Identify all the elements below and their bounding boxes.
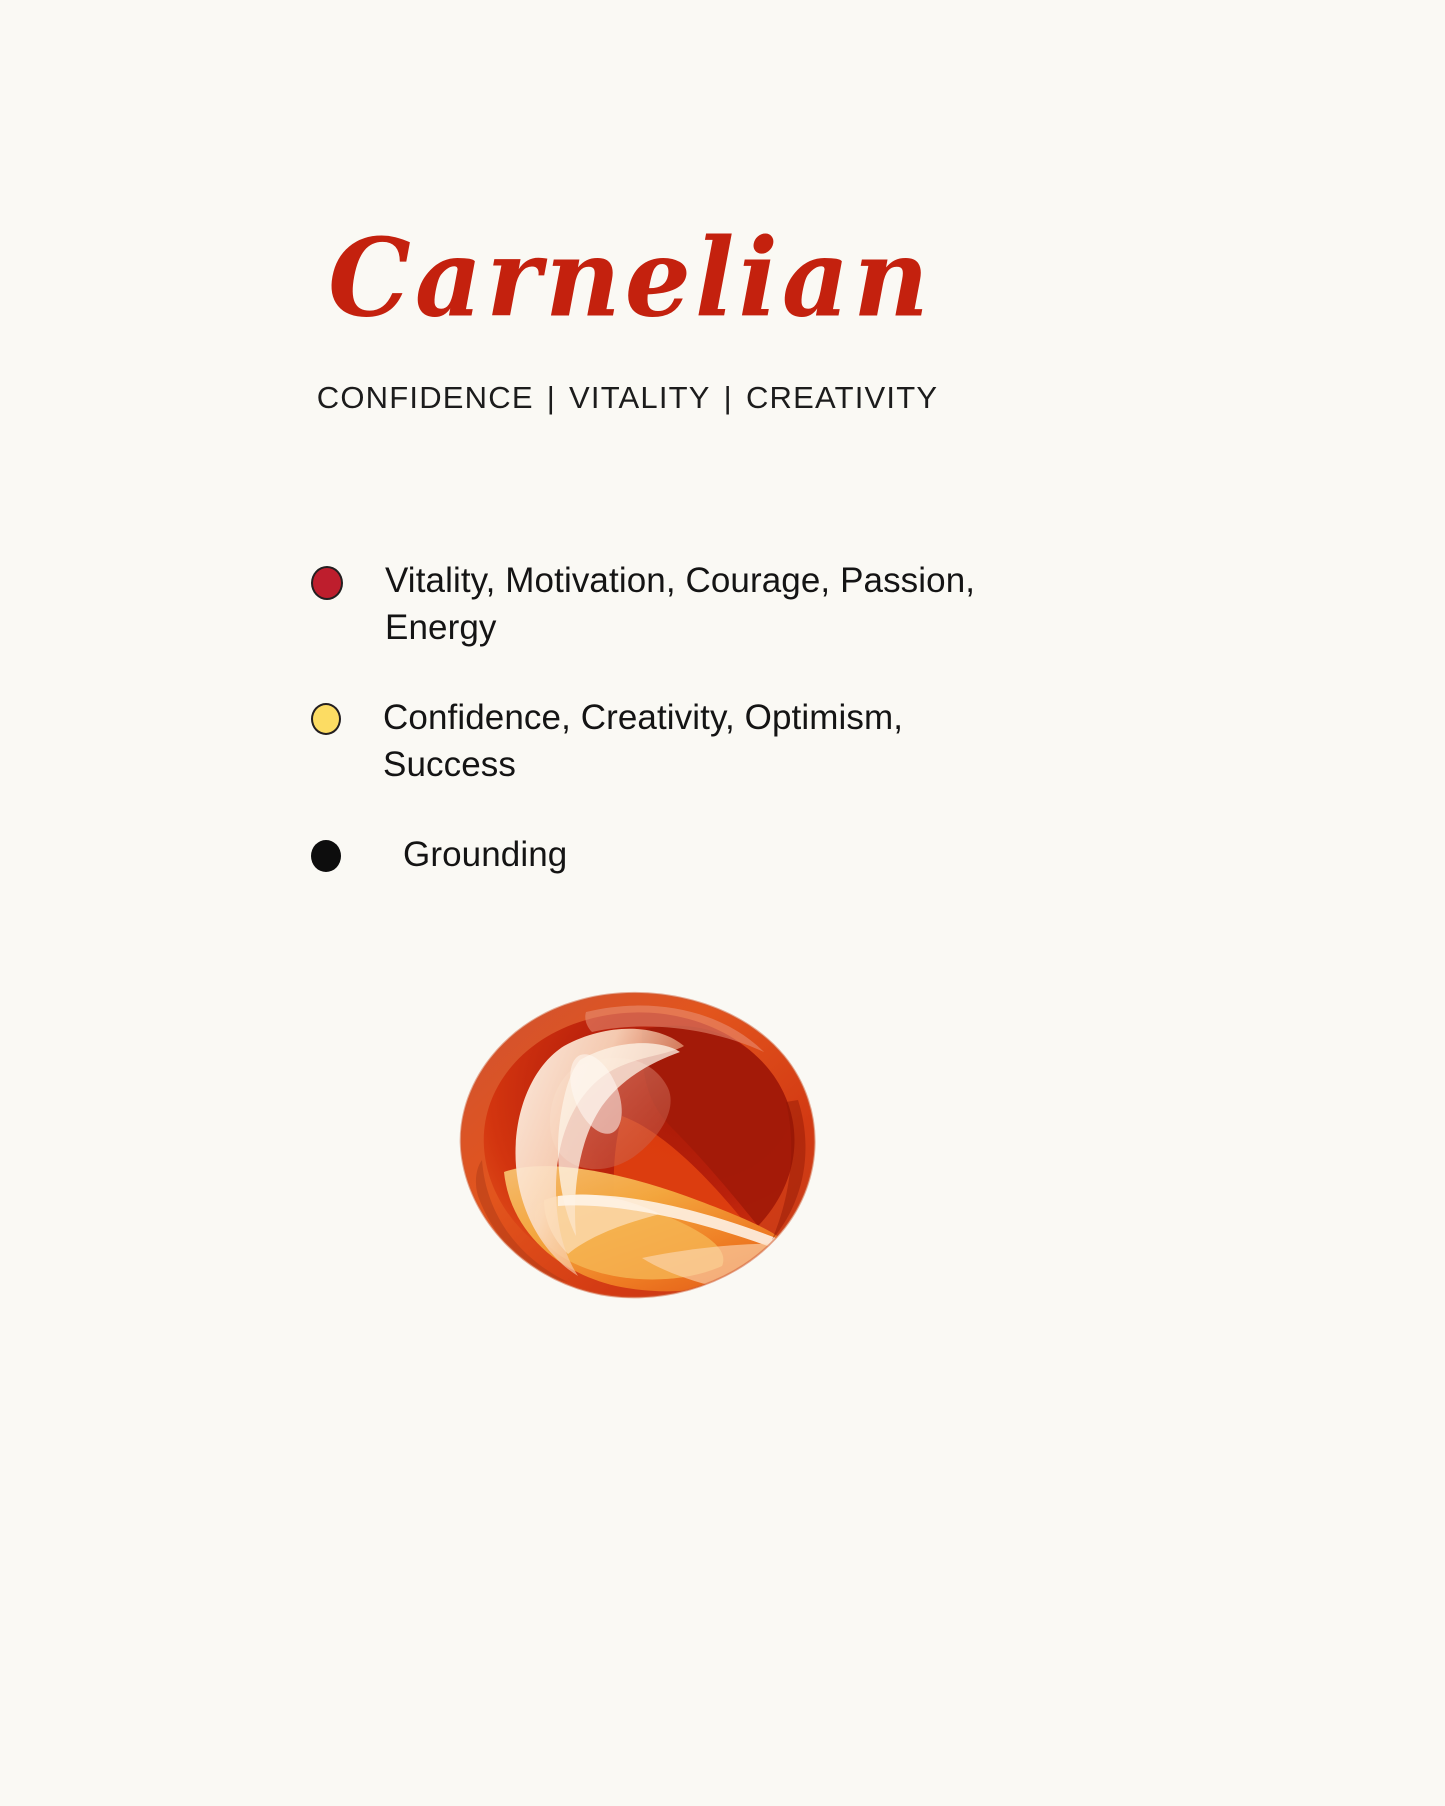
subtitle-part-2: VITALITY — [569, 380, 711, 415]
list-item: Vitality, Motivation, Courage, Passion, … — [311, 558, 1071, 651]
page-title: Carnelian — [0, 224, 1353, 332]
carnelian-stone-illustration — [446, 990, 836, 1310]
list-item-label: Confidence, Creativity, Optimism, Succes… — [383, 695, 1003, 788]
black-dot-icon — [311, 840, 341, 872]
subtitle-part-3: CREATIVITY — [746, 380, 938, 415]
subtitle-separator-1: | — [534, 380, 569, 416]
properties-list: Vitality, Motivation, Courage, Passion, … — [311, 558, 1071, 879]
subtitle-separator-2: | — [711, 380, 746, 416]
list-item-label: Vitality, Motivation, Courage, Passion, … — [385, 558, 1005, 651]
red-dot-icon — [311, 566, 343, 600]
list-item: Grounding — [311, 832, 1071, 879]
list-item-label: Grounding — [403, 832, 567, 879]
yellow-dot-icon — [311, 703, 341, 735]
list-item: Confidence, Creativity, Optimism, Succes… — [311, 695, 1071, 788]
subtitle-part-1: CONFIDENCE — [317, 380, 534, 415]
poster-canvas: Carnelian CONFIDENCE|VITALITY|CREATIVITY… — [0, 0, 1445, 1806]
subtitle-keywords: CONFIDENCE|VITALITY|CREATIVITY — [0, 380, 1350, 416]
